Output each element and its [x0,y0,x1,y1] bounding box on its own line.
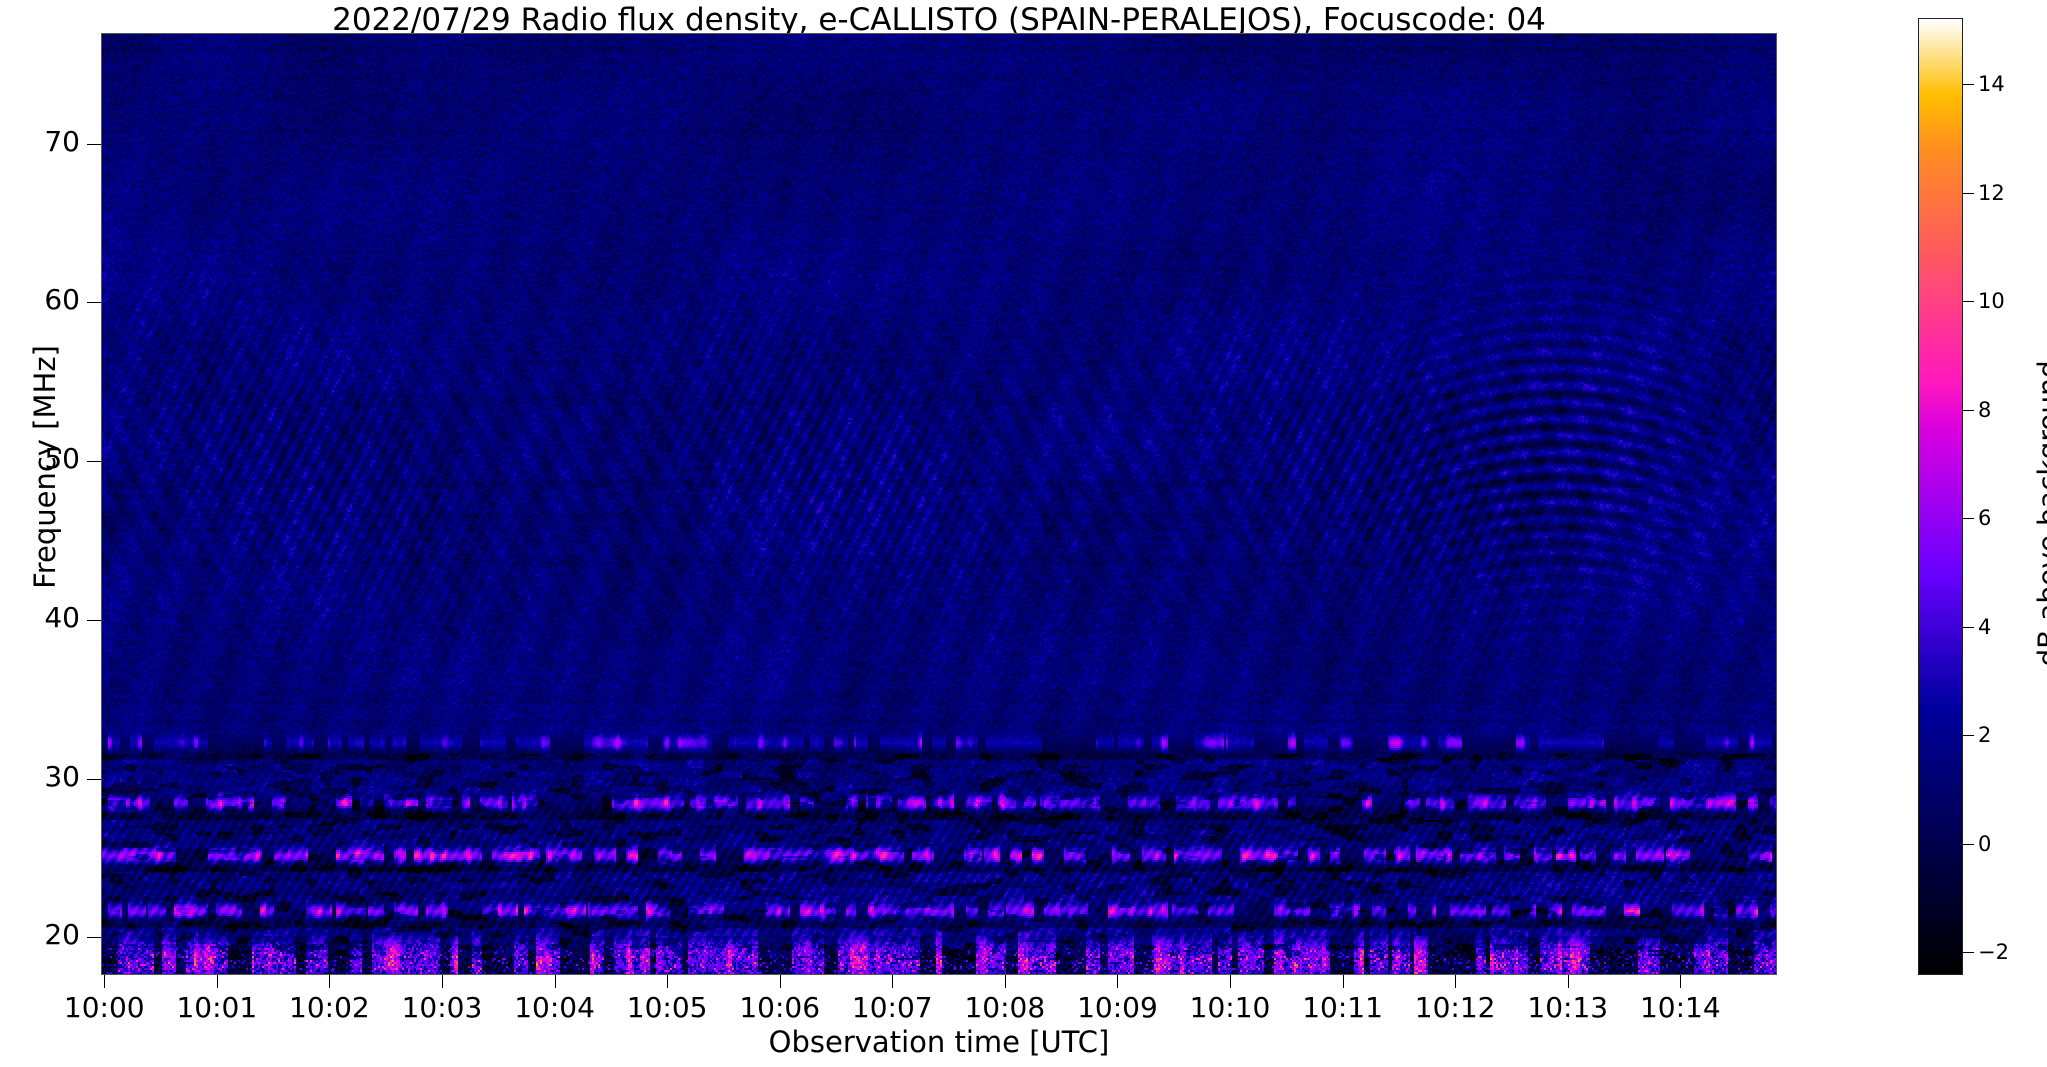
colorbar-tick-mark [1963,518,1974,519]
x-tick-label: 10:14 [1640,991,1721,1024]
colorbar-tick-mark [1963,952,1974,953]
colorbar-tick-label: 0 [1978,832,1991,856]
colorbar-tick-label: 4 [1978,615,1991,639]
x-tick-label: 10:01 [176,991,257,1024]
colorbar-tick-label: 14 [1978,72,2005,96]
x-tick-label: 10:11 [1302,991,1383,1024]
x-tick-label: 10:06 [739,991,820,1024]
x-tick-label: 10:04 [514,991,595,1024]
spectrogram-canvas[interactable] [102,34,1776,974]
x-tick-mark [555,975,556,988]
x-tick-label: 10:07 [852,991,933,1024]
x-tick-mark [442,975,443,988]
colorbar-tick-mark [1963,84,1974,85]
x-tick-mark [104,975,105,988]
x-tick-label: 10:12 [1415,991,1496,1024]
x-tick-mark [892,975,893,988]
y-tick-mark [87,937,101,938]
colorbar-tick-mark [1963,193,1974,194]
x-tick-mark [217,975,218,988]
x-tick-label: 10:13 [1527,991,1608,1024]
colorbar-tick-label: 6 [1978,506,1991,530]
colorbar[interactable] [1918,18,1963,975]
x-tick-label: 10:02 [289,991,370,1024]
figure-root: 2022/07/29 Radio flux density, e-CALLIST… [0,0,2047,1067]
x-tick-label: 10:08 [964,991,1045,1024]
y-tick-mark [87,302,101,303]
spectrogram-plot[interactable] [101,33,1777,975]
x-tick-mark [667,975,668,988]
colorbar-tick-label: 10 [1978,289,2005,313]
colorbar-tick-mark [1963,735,1974,736]
y-axis-label: Frequency [MHz] [28,217,62,717]
colorbar-tick-mark [1963,844,1974,845]
x-tick-mark [1568,975,1569,988]
colorbar-tick-mark [1963,410,1974,411]
x-tick-label: 10:00 [64,991,145,1024]
x-tick-mark [1117,975,1118,988]
x-tick-label: 10:05 [627,991,708,1024]
x-axis-label: Observation time [UTC] [101,1025,1777,1059]
colorbar-canvas [1919,19,1962,974]
colorbar-tick-label: 2 [1978,723,1991,747]
y-tick-mark [87,779,101,780]
x-tick-mark [1343,975,1344,988]
y-tick-mark [87,461,101,462]
colorbar-tick-label: 12 [1978,181,2005,205]
colorbar-tick-label: −2 [1978,940,2009,964]
y-tick-label: 30 [44,760,80,793]
y-tick-label: 20 [44,918,80,951]
x-tick-label: 10:10 [1190,991,1271,1024]
y-tick-mark [87,620,101,621]
x-tick-mark [1005,975,1006,988]
x-tick-mark [780,975,781,988]
x-tick-mark [1230,975,1231,988]
colorbar-tick-label: 8 [1978,398,1991,422]
x-tick-label: 10:09 [1077,991,1158,1024]
colorbar-tick-mark [1963,301,1974,302]
y-tick-mark [87,144,101,145]
y-tick-label: 70 [44,125,80,158]
x-tick-mark [329,975,330,988]
colorbar-label: dB above background [2032,264,2047,764]
colorbar-tick-mark [1963,627,1974,628]
x-tick-mark [1680,975,1681,988]
x-tick-mark [1455,975,1456,988]
x-tick-label: 10:03 [402,991,483,1024]
